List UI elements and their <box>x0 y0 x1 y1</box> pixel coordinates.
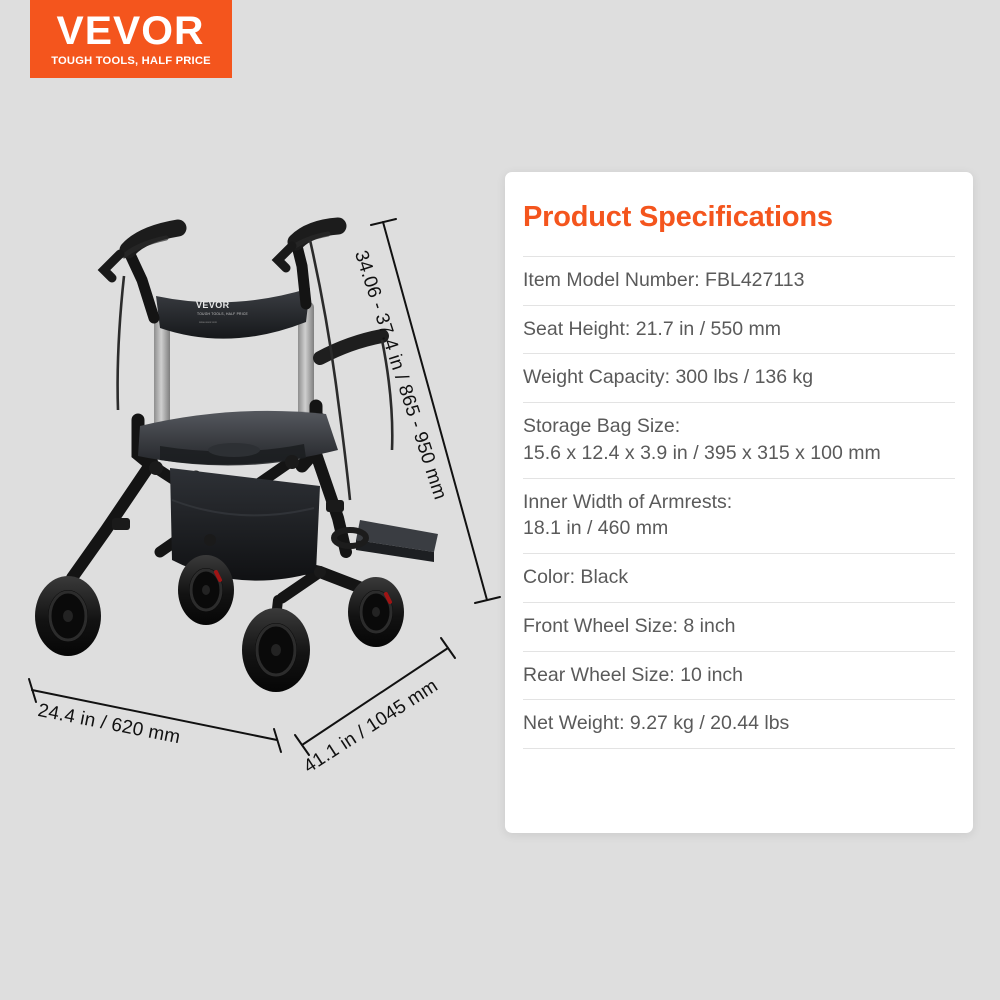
spec-row-line: Rear Wheel Size: 10 inch <box>523 663 955 689</box>
spec-row-line: Net Weight: 9.27 kg / 20.44 lbs <box>523 711 955 737</box>
spec-row: Inner Width of Armrests:18.1 in / 460 mm <box>523 479 955 554</box>
spec-row-line: Item Model Number: FBL427113 <box>523 268 955 294</box>
svg-text:www.vevor.com: www.vevor.com <box>199 320 217 324</box>
spec-row: Front Wheel Size: 8 inch <box>523 603 955 652</box>
spec-rows-list: Item Model Number: FBL427113Seat Height:… <box>523 256 955 749</box>
wheel-rear-center <box>242 608 310 692</box>
spec-row: Color: Black <box>523 554 955 603</box>
spec-row-line: Weight Capacity: 300 lbs / 136 kg <box>523 365 955 391</box>
spec-panel-title: Product Specifications <box>523 202 955 234</box>
right-brake-lever <box>278 246 292 268</box>
svg-text:VEVOR: VEVOR <box>196 300 230 310</box>
spec-row-line: Storage Bag Size: <box>523 414 955 440</box>
spec-row: Rear Wheel Size: 10 inch <box>523 652 955 701</box>
spec-row: Weight Capacity: 300 lbs / 136 kg <box>523 354 955 403</box>
product-specifications-panel: Product Specifications Item Model Number… <box>505 172 973 833</box>
spec-row: Seat Height: 21.7 in / 550 mm <box>523 306 955 355</box>
spec-row-line: 18.1 in / 460 mm <box>523 516 955 542</box>
product-spec-page: VEVOR TOUGH TOOLS, HALF PRICE <box>0 0 1000 1000</box>
wheel-rear-right <box>348 577 404 647</box>
spec-row-line: Seat Height: 21.7 in / 550 mm <box>523 317 955 343</box>
spec-row-line: Front Wheel Size: 8 inch <box>523 614 955 640</box>
wheel-front-left <box>35 576 101 656</box>
spec-row: Net Weight: 9.27 kg / 20.44 lbs <box>523 700 955 749</box>
spec-row: Storage Bag Size:15.6 x 12.4 x 3.9 in / … <box>523 403 955 478</box>
spec-row-line: Inner Width of Armrests: <box>523 490 955 516</box>
left-brake-lever <box>104 254 120 278</box>
vevor-tagline: TOUGH TOOLS, HALF PRICE <box>51 56 211 67</box>
seat-handle <box>208 443 260 457</box>
spec-row: Item Model Number: FBL427113 <box>523 256 955 306</box>
spec-row-line: Color: Black <box>523 565 955 591</box>
handlebars <box>104 226 382 358</box>
vevor-wordmark-icon: VEVOR <box>57 11 205 51</box>
spec-row-line: 15.6 x 12.4 x 3.9 in / 395 x 315 x 100 m… <box>523 441 955 467</box>
vevor-logo: VEVOR TOUGH TOOLS, HALF PRICE <box>30 0 232 78</box>
svg-text:TOUGH TOOLS, HALF PRICE: TOUGH TOOLS, HALF PRICE <box>197 312 248 316</box>
wheel-mid <box>178 555 234 625</box>
